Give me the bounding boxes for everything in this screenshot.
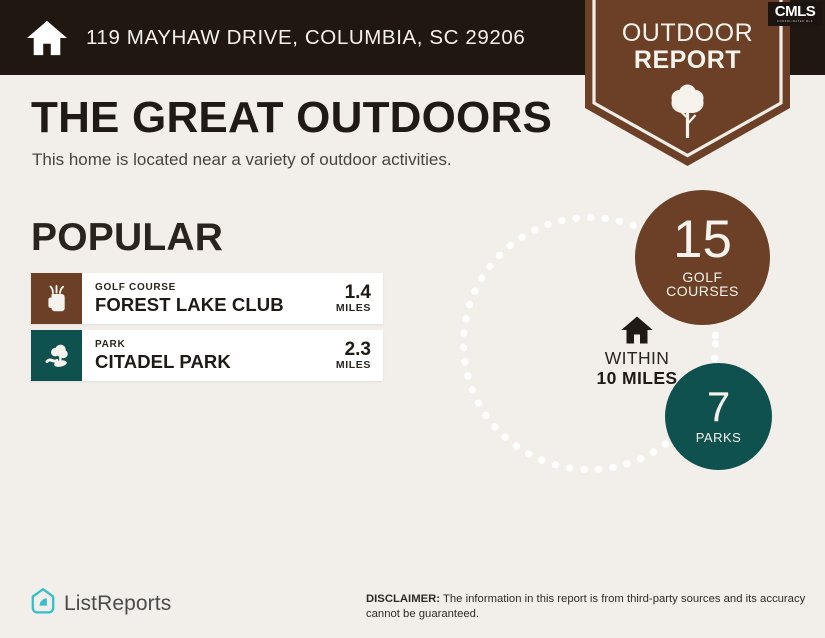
- distance-unit: MILES: [336, 303, 371, 315]
- property-address: 119 MAYHAW DRIVE, COLUMBIA, SC 29206: [86, 26, 525, 50]
- distance-value: 1.4: [345, 283, 371, 303]
- badge-title-line2: REPORT: [585, 47, 790, 74]
- golf-courses-count: 15: [673, 216, 732, 265]
- popular-list: GOLF COURSE FOREST LAKE CLUB 1.4 MILES P…: [31, 273, 383, 387]
- distance-value: 2.3: [345, 340, 371, 360]
- page-title: THE GREAT OUTDOORS: [31, 96, 552, 140]
- list-item-category: GOLF COURSE: [95, 282, 336, 293]
- stat-circle-parks: 7 PARKS: [665, 363, 772, 470]
- golf-courses-label: GOLF COURSES: [666, 270, 739, 299]
- home-icon: [26, 19, 68, 57]
- golf-courses-label-line2: COURSES: [666, 283, 739, 299]
- cmls-wordmark: CMLS: [775, 4, 816, 19]
- distance-unit: MILES: [336, 360, 371, 372]
- parks-count: 7: [707, 388, 730, 427]
- listreports-house-icon: [30, 587, 56, 620]
- list-item-name: FOREST LAKE CLUB: [95, 294, 336, 315]
- list-item-name: CITADEL PARK: [95, 351, 336, 372]
- popular-section-title: POPULAR: [31, 218, 223, 257]
- list-item-distance: 1.4 MILES: [336, 273, 383, 324]
- golf-courses-label-line1: GOLF: [682, 269, 722, 285]
- page-subtitle: This home is located near a variety of o…: [32, 150, 452, 170]
- cmls-logo: CMLS CONSOLIDATED MLS: [768, 2, 822, 26]
- outdoor-report-badge: OUTDOOR REPORT: [585, 0, 790, 166]
- list-item-category: PARK: [95, 339, 336, 350]
- list-item-text: PARK CITADEL PARK: [82, 330, 336, 381]
- disclaimer-label: DISCLAIMER:: [366, 593, 440, 605]
- badge-title-line1: OUTDOOR: [622, 19, 753, 47]
- list-item-distance: 2.3 MILES: [336, 330, 383, 381]
- park-tree-icon: [31, 330, 82, 381]
- stat-circle-golf-courses: 15 GOLF COURSES: [635, 190, 770, 325]
- badge-title: OUTDOOR REPORT: [585, 20, 790, 74]
- parks-label: PARKS: [696, 431, 742, 445]
- cmls-subtitle: CONSOLIDATED MLS: [777, 21, 813, 24]
- listreports-logo[interactable]: ListReports: [30, 587, 171, 620]
- golf-bag-icon: [31, 273, 82, 324]
- listreports-wordmark: ListReports: [64, 592, 171, 616]
- list-item[interactable]: PARK CITADEL PARK 2.3 MILES: [31, 330, 383, 381]
- header-content: 119 MAYHAW DRIVE, COLUMBIA, SC 29206: [26, 0, 525, 75]
- list-item[interactable]: GOLF COURSE FOREST LAKE CLUB 1.4 MILES: [31, 273, 383, 324]
- proximity-infographic: WITHIN 10 MILES 15 GOLF COURSES 7 PARKS: [440, 185, 825, 515]
- disclaimer: DISCLAIMER: The information in this repo…: [366, 592, 816, 622]
- list-item-text: GOLF COURSE FOREST LAKE CLUB: [82, 273, 336, 324]
